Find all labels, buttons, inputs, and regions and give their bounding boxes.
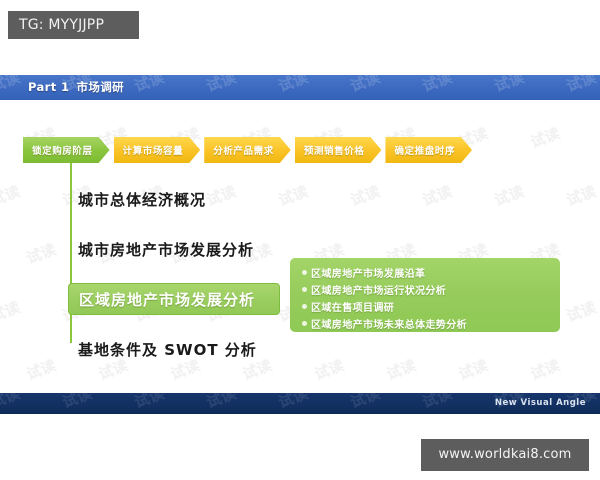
detail-bullet-label: 区域房地产市场未来总体走势分析 [311, 316, 467, 331]
watermark-glyph: 试读 [167, 97, 202, 100]
watermark-glyph: 试读 [239, 97, 274, 100]
watermark-glyph: 试读 [275, 393, 310, 412]
watermark-glyph: 试读 [419, 181, 454, 211]
watermark-glyph: 试读 [275, 75, 310, 96]
process-arrow: 锁定购房阶层 [23, 137, 110, 163]
watermark-glyph: 试读 [347, 393, 382, 412]
watermark-glyph: 试读 [23, 355, 58, 385]
url-badge: www.worldkai8.com [421, 439, 589, 471]
detail-bullet-row: 区域在售项目调研 [302, 298, 560, 314]
process-arrow-label: 预测销售价格 [304, 143, 365, 157]
watermark-glyph: 试读 [23, 97, 58, 100]
bullet-dot-icon [302, 304, 307, 309]
detail-bullet-label: 区域房地产市场发展沿革 [311, 265, 425, 280]
watermark-glyph: 试读 [167, 413, 202, 414]
watermark-glyph: 试读 [23, 239, 58, 269]
watermark-glyph: 试读 [455, 413, 490, 414]
process-arrow: 预测销售价格 [295, 137, 382, 163]
watermark-glyph: 试读 [59, 393, 94, 412]
process-flow-arrows: 锁定购房阶层计算市场容量分析产品需求预测销售价格确定推盘时序 [23, 137, 472, 163]
watermark-glyph: 试读 [95, 413, 130, 414]
watermark-glyph: 试读 [311, 355, 346, 385]
process-arrow-label: 确定推盘时序 [394, 143, 455, 157]
watermark-glyph: 试读 [311, 97, 346, 100]
outline-item[interactable]: 城市总体经济概况 [68, 183, 280, 215]
watermark-glyph: 试读 [491, 181, 526, 211]
watermark-glyph: 试读 [419, 393, 454, 412]
slide-title-heading: 市场调研 [76, 80, 124, 94]
watermark-glyph: 试读 [383, 355, 418, 385]
watermark-glyph: 试读 [0, 181, 23, 211]
process-arrow: 分析产品需求 [204, 137, 291, 163]
watermark-glyph: 试读 [95, 97, 130, 100]
watermark-glyph: 试读 [203, 393, 238, 412]
watermark-glyph: 试读 [347, 181, 382, 211]
watermark-glyph: 试读 [527, 123, 562, 153]
detail-bullet-row: 区域房地产市场发展沿革 [302, 264, 560, 280]
bullet-dot-icon [302, 321, 307, 326]
detail-panel: 区域房地产市场发展沿革区域房地产市场运行状况分析区域在售项目调研区域房地产市场未… [290, 258, 560, 332]
detail-bullet-row: 区域房地产市场运行状况分析 [302, 281, 560, 297]
detail-bullet-label: 区域房地产市场运行状况分析 [311, 282, 446, 297]
presentation-slide: 试读试读试读试读试读试读试读试读试读试读试读试读试读试读试读试读试读试读试读试读… [0, 75, 600, 415]
footer-brand-text: New Visual Angle [495, 398, 586, 408]
detail-bullet-label: 区域在售项目调研 [311, 299, 394, 314]
watermark-glyph: 试读 [491, 75, 526, 96]
watermark-glyph: 试读 [239, 413, 274, 414]
watermark-glyph: 试读 [311, 413, 346, 414]
watermark-glyph: 试读 [455, 355, 490, 385]
watermark-glyph: 试读 [383, 97, 418, 100]
bullet-dot-icon [302, 270, 307, 275]
watermark-glyph: 试读 [347, 75, 382, 96]
screenshot-root: TG: MYYJJPP 试读试读试读试读试读试读试读试读试读试读试读试读试读试读… [0, 0, 600, 480]
watermark-glyph: 试读 [0, 393, 23, 412]
outline-item-active[interactable]: 区域房地产市场发展分析 [68, 283, 280, 315]
watermark-glyph: 试读 [275, 181, 310, 211]
process-arrow-label: 分析产品需求 [213, 143, 274, 157]
process-arrow-label: 锁定购房阶层 [32, 143, 93, 157]
outline-item[interactable]: 基地条件及 SWOT 分析 [68, 333, 280, 365]
watermark-glyph: 试读 [203, 75, 238, 96]
watermark-glyph: 试读 [0, 75, 23, 96]
detail-bullet-row: 区域房地产市场未来总体走势分析 [302, 315, 560, 331]
slide-title: Part 1市场调研 [28, 79, 124, 95]
watermark-glyph: 试读 [131, 75, 166, 96]
watermark-glyph: 试读 [455, 97, 490, 100]
watermark-glyph: 试读 [419, 75, 454, 96]
process-arrow: 确定推盘时序 [385, 137, 472, 163]
slide-title-part: Part 1 [28, 80, 69, 94]
outline-list: 城市总体经济概况城市房地产市场发展分析区域房地产市场发展分析基地条件及 SWOT… [68, 183, 280, 365]
watermark-glyph: 试读 [131, 393, 166, 412]
process-arrow-label: 计算市场容量 [123, 143, 184, 157]
watermark-glyph: 试读 [527, 97, 562, 100]
watermark-glyph: 试读 [563, 297, 598, 327]
watermark-glyph: 试读 [0, 297, 23, 327]
outline-item[interactable]: 城市房地产市场发展分析 [68, 233, 280, 265]
watermark-glyph: 试读 [527, 355, 562, 385]
watermark-glyph: 试读 [23, 413, 58, 414]
watermark-glyph: 试读 [563, 75, 598, 96]
slide-footer-band: New Visual Angle 试读试读试读试读试读试读试读试读试读试读试读试… [0, 393, 600, 414]
watermark-glyph: 试读 [563, 181, 598, 211]
watermark-glyph: 试读 [383, 413, 418, 414]
bullet-dot-icon [302, 287, 307, 292]
tg-badge: TG: MYYJJPP [8, 11, 139, 39]
slide-title-band: Part 1市场调研 试读试读试读试读试读试读试读试读试读试读试读试读试读试读试… [0, 75, 600, 100]
watermark-glyph: 试读 [527, 413, 562, 414]
process-arrow: 计算市场容量 [114, 137, 201, 163]
